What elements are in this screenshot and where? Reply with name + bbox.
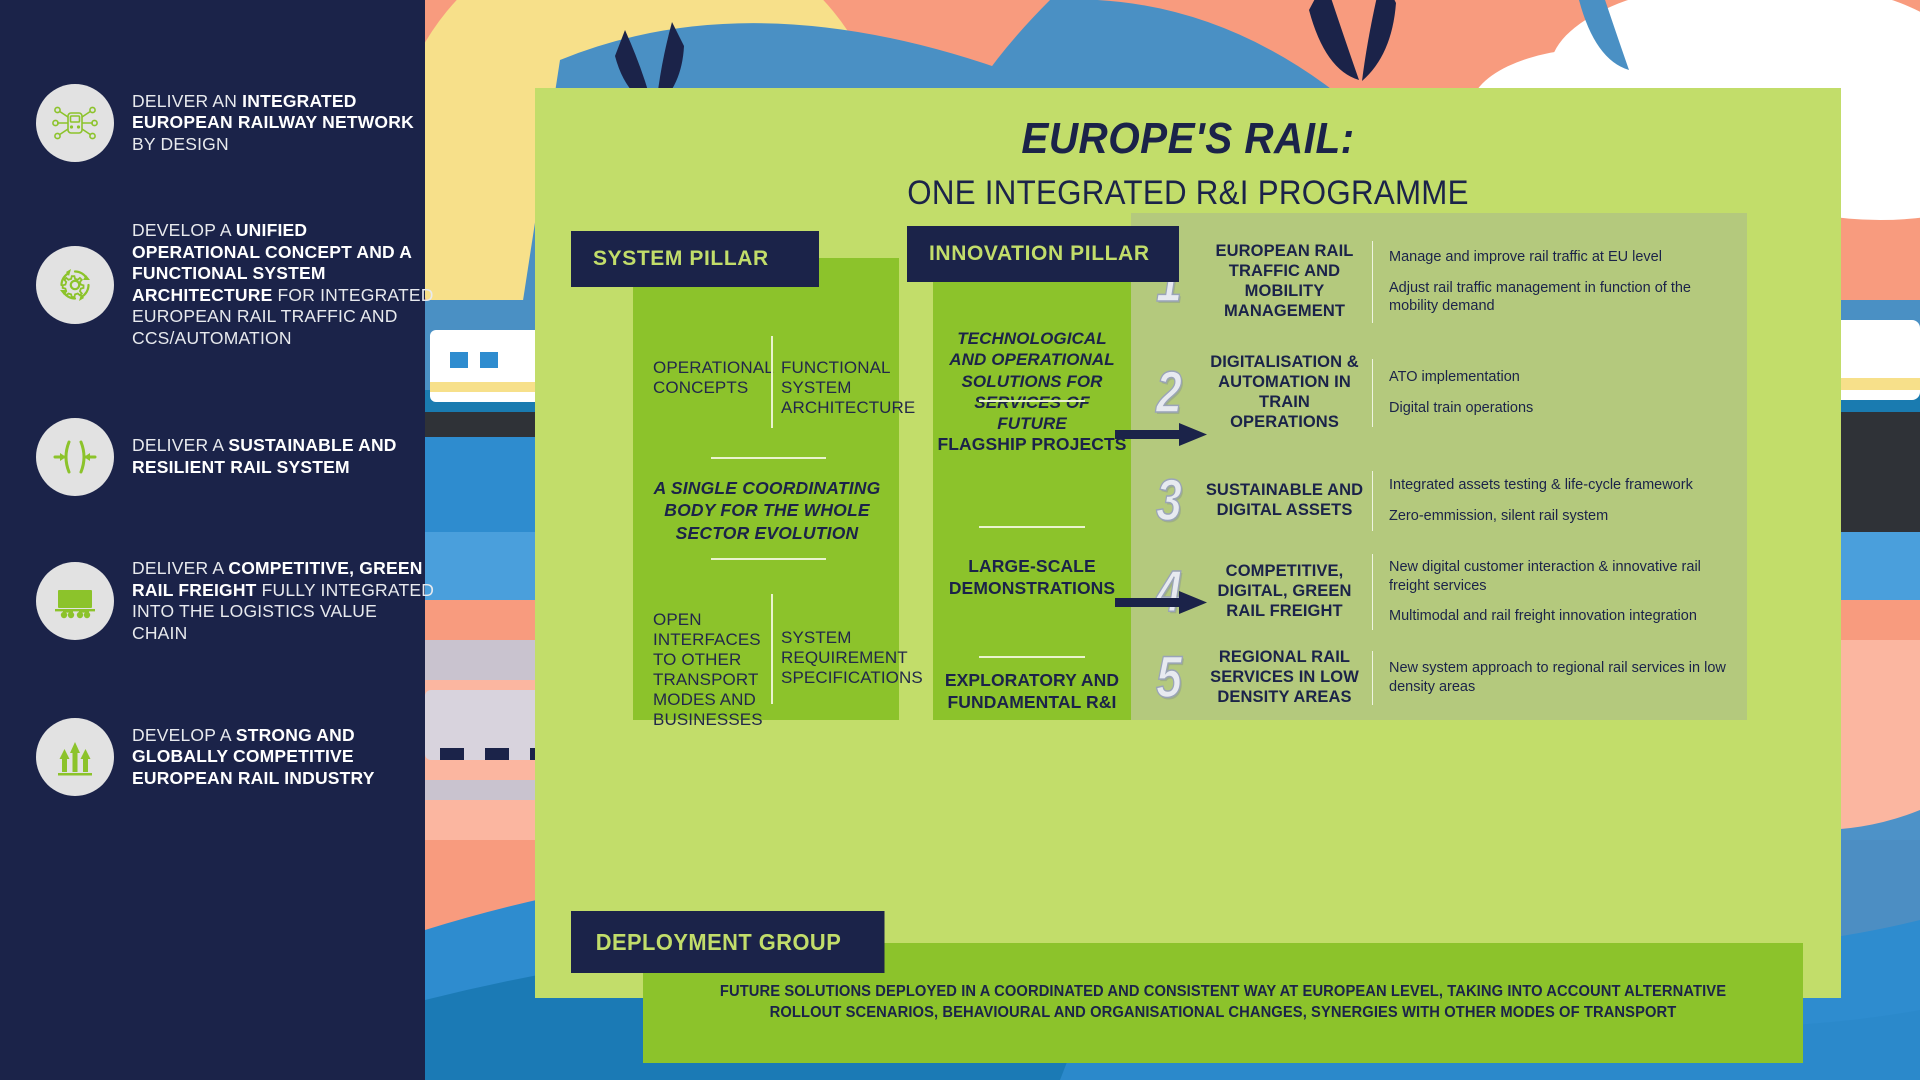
tab-system-pillar[interactable]: SYSTEM PILLAR: [571, 231, 819, 287]
goals-sidebar: DELIVER AN INTEGRATED EUROPEAN RAILWAY N…: [0, 0, 425, 1080]
freight-wagon-icon: [36, 562, 114, 640]
deployment-group-text: FUTURE SOLUTIONS DEPLOYED IN A COORDINAT…: [710, 982, 1736, 1024]
area-title-2: DIGITALISATION & AUTOMATION IN TRAIN OPE…: [1197, 353, 1372, 432]
area-desc-5-line-1: New system approach to regional rail ser…: [1389, 659, 1741, 697]
goal-label-2: DEVELOP A UNIFIED OPERATIONAL CONCEPT AN…: [132, 220, 436, 349]
divider-inno-2: [979, 526, 1085, 528]
area-number-2: 2: [1147, 364, 1192, 422]
arrow-right-icon-2: [1115, 588, 1207, 616]
page-title: EUROPE'S RAIL:: [587, 114, 1789, 164]
innovation-item-flagship: FLAGSHIP PROJECTS: [933, 434, 1131, 456]
divider-inno-3: [979, 656, 1085, 658]
area-number-3: 3: [1147, 472, 1192, 530]
area-desc-5: New system approach to regional rail ser…: [1373, 659, 1741, 697]
area-desc-4-line-1: New digital customer interaction & innov…: [1389, 558, 1741, 596]
gear-cycle-icon: [36, 246, 114, 324]
goal-label-4: DELIVER A COMPETITIVE, GREEN RAIL FREIGH…: [132, 558, 436, 644]
divider-horizontal-upper: [711, 457, 826, 459]
area-desc-4: New digital customer interaction & innov…: [1373, 558, 1741, 627]
goal-label-5: DEVELOP A STRONG AND GLOBALLY COMPETITIV…: [132, 725, 436, 790]
area-title-5: REGIONAL RAIL SERVICES IN LOW DENSITY AR…: [1197, 648, 1372, 707]
area-desc-4-line-2: Multimodal and rail freight innovation i…: [1389, 607, 1741, 626]
area-desc-2-line-2: Digital train operations: [1389, 399, 1741, 418]
divider-vertical-bottom: [771, 594, 773, 704]
resilience-arrows-icon: [36, 418, 114, 496]
area-desc-3-line-2: Zero-emmission, silent rail system: [1389, 507, 1741, 526]
area-row-3: 3 SUSTAINABLE AND DIGITAL ASSETS Integra…: [1141, 465, 1741, 537]
area-title-1: EUROPEAN RAIL TRAFFIC AND MOBILITY MANAG…: [1197, 242, 1372, 321]
area-number-5: 5: [1147, 649, 1192, 707]
arrow-right-icon-1: [1115, 420, 1207, 448]
goal-item-2: DEVELOP A UNIFIED OPERATIONAL CONCEPT AN…: [36, 220, 436, 349]
tab-deployment-group[interactable]: DEPLOYMENT GROUP: [571, 911, 885, 973]
goal-item-4: DELIVER A COMPETITIVE, GREEN RAIL FREIGH…: [36, 558, 436, 644]
area-title-4: COMPETITIVE, DIGITAL, GREEN RAIL FREIGHT: [1197, 562, 1372, 621]
innovation-item-demonstrations: LARGE-SCALE DEMONSTRATIONS: [933, 556, 1131, 600]
growth-arrows-icon: [36, 718, 114, 796]
page-subtitle: ONE INTEGRATED R&I PROGRAMME: [587, 174, 1789, 213]
area-desc-1-line-2: Adjust rail traffic management in functi…: [1389, 279, 1741, 317]
area-row-5: 5 REGIONAL RAIL SERVICES IN LOW DENSITY …: [1141, 645, 1741, 711]
goal-label-3: DELIVER A SUSTAINABLE AND RESILIENT RAIL…: [132, 435, 436, 478]
goal-item-1: DELIVER AN INTEGRATED EUROPEAN RAILWAY N…: [36, 84, 436, 162]
area-desc-3: Integrated assets testing & life-cycle f…: [1373, 476, 1741, 526]
area-desc-3-line-1: Integrated assets testing & life-cycle f…: [1389, 476, 1741, 495]
innovation-pillar-panel: TECHNOLOGICAL AND OPERATIONAL SOLUTIONS …: [933, 258, 1131, 720]
divider-horizontal-lower: [711, 558, 826, 560]
goal-label-1: DELIVER AN INTEGRATED EUROPEAN RAILWAY N…: [132, 91, 436, 156]
divider-inno-1: [979, 400, 1085, 402]
area-desc-2-line-1: ATO implementation: [1389, 368, 1741, 387]
area-row-4: 4 COMPETITIVE, DIGITAL, GREEN RAIL FREIG…: [1141, 548, 1741, 636]
area-row-1: 1 EUROPEAN RAIL TRAFFIC AND MOBILITY MAN…: [1141, 235, 1741, 329]
network-train-icon: [36, 84, 114, 162]
system-requirement-specs: SYSTEM REQUIREMENT SPECIFICATIONS: [781, 628, 893, 688]
tab-innovation-pillar[interactable]: INNOVATION PILLAR: [907, 226, 1179, 282]
area-title-3: SUSTAINABLE AND DIGITAL ASSETS: [1197, 481, 1372, 521]
system-pillar-panel: OPERATIONAL CONCEPTS FUNCTIONAL SYSTEM A…: [633, 258, 899, 720]
system-open-interfaces: OPEN INTERFACES TO OTHER TRANSPORT MODES…: [653, 610, 761, 730]
programme-card: EUROPE'S RAIL: ONE INTEGRATED R&I PROGRA…: [535, 88, 1841, 998]
area-desc-2: ATO implementation Digital train operati…: [1373, 368, 1741, 418]
system-functional-architecture: FUNCTIONAL SYSTEM ARCHITECTURE: [781, 358, 893, 418]
goal-item-5: DEVELOP A STRONG AND GLOBALLY COMPETITIV…: [36, 718, 436, 796]
divider-vertical-top: [771, 336, 773, 428]
area-desc-1: Manage and improve rail traffic at EU le…: [1373, 248, 1741, 317]
goal-item-3: DELIVER A SUSTAINABLE AND RESILIENT RAIL…: [36, 418, 436, 496]
area-desc-1-line-1: Manage and improve rail traffic at EU le…: [1389, 248, 1741, 267]
system-coordinating-body: A SINGLE COORDINATING BODY FOR THE WHOLE…: [651, 477, 883, 544]
area-row-2: 2 DIGITALISATION & AUTOMATION IN TRAIN O…: [1141, 353, 1741, 433]
system-operational-concepts: OPERATIONAL CONCEPTS: [653, 358, 763, 398]
innovation-heading: TECHNOLOGICAL AND OPERATIONAL SOLUTIONS …: [933, 328, 1131, 434]
innovation-item-exploratory: EXPLORATORY AND FUNDAMENTAL R&I: [933, 670, 1131, 714]
innovation-areas-panel: 1 EUROPEAN RAIL TRAFFIC AND MOBILITY MAN…: [1131, 213, 1747, 720]
